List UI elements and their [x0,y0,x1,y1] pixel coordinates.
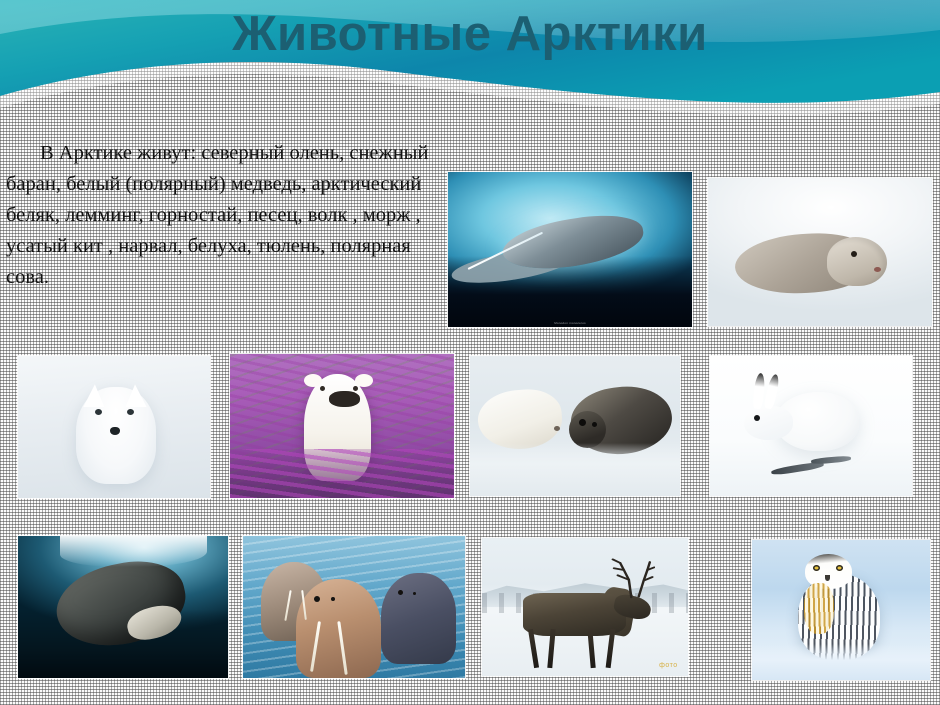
reindeer-watermark: фото [659,662,678,669]
hare-ear-right-icon [763,374,781,410]
snow-foreground [752,644,930,680]
snowy-owl-illustration [752,540,930,680]
photo-narwhal[interactable]: Monodon monoceros [448,172,692,327]
walrus-tusk-a-icon [310,621,321,672]
bear-eye-right-icon [353,386,358,391]
photo-lemming[interactable] [708,178,932,326]
polar-bear-illustration [230,354,454,498]
bowhead-whale-illustration [18,536,228,678]
seals-illustration [470,356,680,496]
reindeer-illustration: фото [482,538,688,676]
arctic-fox-illustration [18,356,210,498]
walrus-eyes-right-icon [398,590,403,595]
snow-foreground [470,443,680,496]
photo-snowy-owl[interactable] [752,540,930,680]
body-paragraph: В Арктике живут: северный олень, снежный… [6,138,442,293]
photo-polar-bear[interactable] [230,354,454,498]
owl-beak-icon [825,575,830,581]
presentation-slide: Животные Арктики В Арктике живут: северн… [0,0,940,705]
background-village [482,593,688,612]
walruses-illustration [243,536,465,678]
whale-jaw-icon [124,601,185,645]
photo-reindeer[interactable]: фото [482,538,688,676]
bear-ear-left-icon [304,374,322,387]
fox-ear-left-icon [83,384,104,407]
owl-breast-plumage [804,583,834,633]
lemming-eye-icon [851,251,857,257]
seal-pup-nose-icon [554,426,560,431]
photo-walruses[interactable] [243,536,465,678]
fox-eye-right-icon [127,409,134,415]
lemming-illustration [708,178,932,326]
owl-eye-left-icon [813,565,820,571]
fox-eye-left-icon [95,409,102,415]
owl-eye-right-icon [836,565,843,571]
photo-bowhead-whale[interactable] [18,536,228,678]
ice-sheet-icon [60,536,207,567]
bear-eye-left-icon [320,386,325,391]
walrus-eyes-front-icon [314,596,320,602]
reindeer-legs [527,629,626,668]
narwhal-tusk-icon [467,232,542,270]
bear-snout-icon [329,391,360,407]
photo-arctic-fox[interactable] [18,356,210,498]
bear-ear-right-icon [355,374,373,387]
lemming-nose-icon [874,267,881,272]
hare-foot-front-icon [811,455,852,464]
walrus-tusk-b-icon [337,621,347,675]
fireweed-foreground [230,449,454,498]
photo-seals[interactable] [470,356,680,496]
reindeer-antlers-icon [593,555,655,599]
photo-arctic-hare[interactable] [710,356,912,496]
hare-eye-icon [754,415,760,421]
fox-ear-right-icon [126,384,147,407]
slide-title: Животные Арктики [0,6,940,62]
narwhal-illustration [448,172,692,327]
fox-nose-icon [110,427,120,435]
arctic-hare-illustration [710,356,912,496]
